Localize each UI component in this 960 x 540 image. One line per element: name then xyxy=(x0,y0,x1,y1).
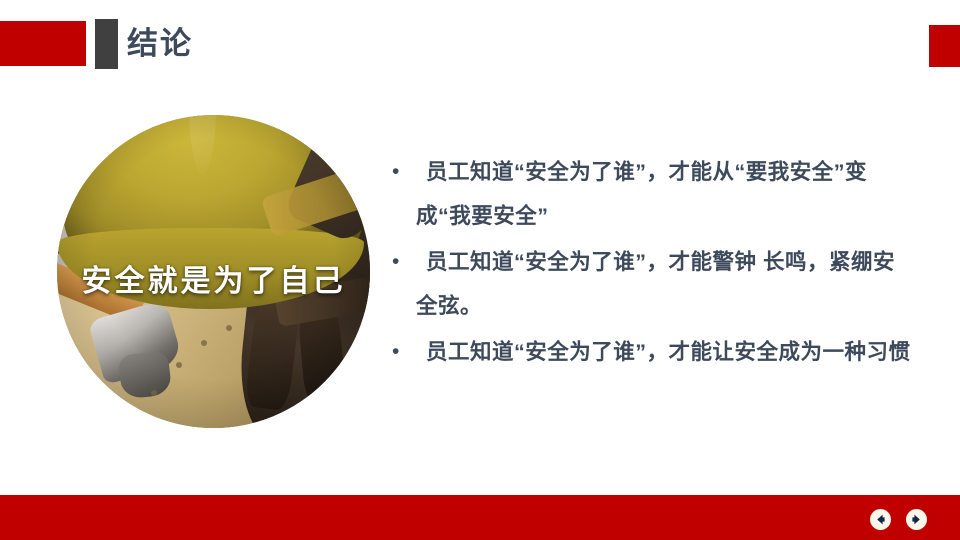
header-gray-accent-block xyxy=(95,19,118,69)
bullet-marker-icon: • xyxy=(392,150,416,194)
header-red-accent-block xyxy=(0,21,86,66)
page-title: 结论 xyxy=(127,22,193,66)
slide-canvas: 结论 安全就是为了自己 xyxy=(0,0,960,540)
photo-caption: 安全就是为了自己 xyxy=(57,256,370,300)
list-item: • 员工知道“安全为了谁”，才能让安全成为一种习惯 xyxy=(392,330,912,374)
list-item-text: 员工知道“安全为了谁”，才能从“要我安全”变成“我要安全” xyxy=(416,150,912,238)
footer-bar xyxy=(0,495,960,540)
list-item-text: 员工知道“安全为了谁”，才能让安全成为一种习惯 xyxy=(392,330,912,374)
circular-photo: 安全就是为了自己 xyxy=(57,115,370,428)
previous-slide-button[interactable] xyxy=(870,509,891,530)
list-item-text: 员工知道“安全为了谁”，才能警钟 长鸣，紧绷安全弦。 xyxy=(392,240,912,328)
next-slide-button[interactable] xyxy=(906,509,927,530)
arrow-left-icon xyxy=(874,513,887,526)
header-red-corner-block xyxy=(929,25,960,67)
list-item: • 员工知道“安全为了谁”，才能从“要我安全”变成“我要安全” xyxy=(392,150,912,238)
list-item: • 员工知道“安全为了谁”，才能警钟 长鸣，紧绷安全弦。 xyxy=(392,240,912,328)
bullet-list: • 员工知道“安全为了谁”，才能从“要我安全”变成“我要安全” • 员工知道“安… xyxy=(392,150,912,376)
arrow-right-icon xyxy=(910,513,923,526)
